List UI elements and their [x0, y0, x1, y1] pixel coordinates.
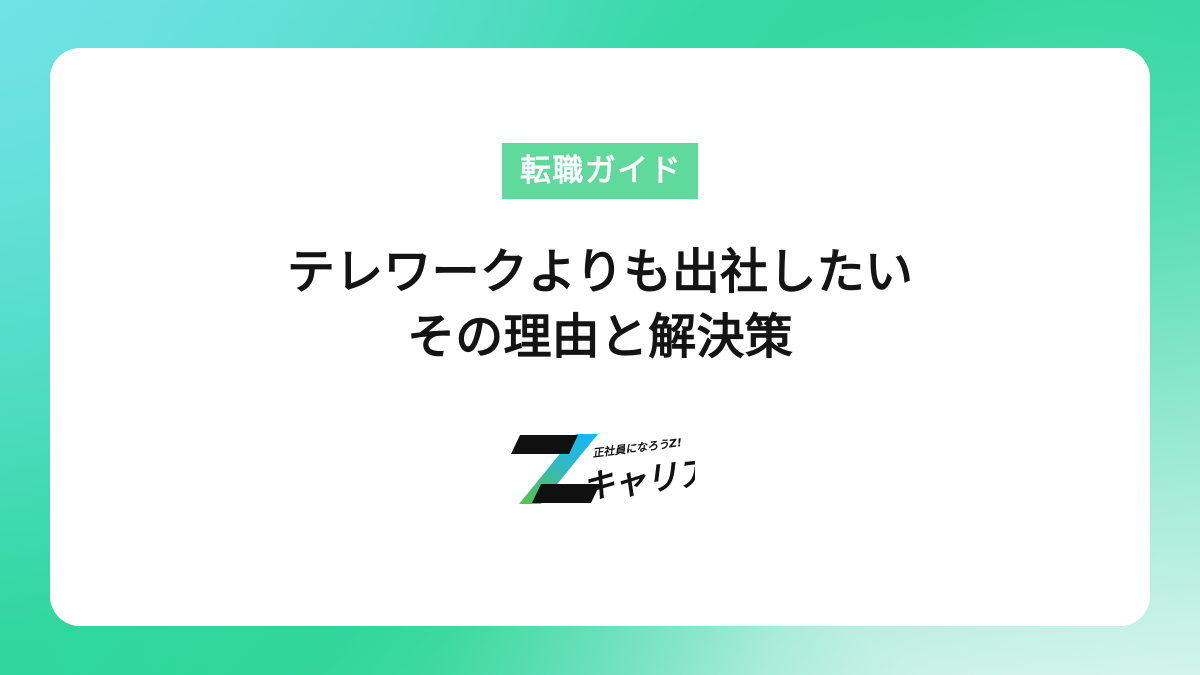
logo-wordmark: キャリア [579, 451, 695, 506]
category-badge: 転職ガイド [502, 143, 698, 199]
brand-logo: 正社員になろうZ! キャリア [505, 429, 695, 509]
page-title: テレワークよりも出社したい その理由と解決策 [287, 240, 913, 371]
ogp-canvas: 転職ガイド テレワークよりも出社したい その理由と解決策 [0, 0, 1200, 675]
page-title-line-2: その理由と解決策 [287, 305, 913, 370]
page-title-line-1: テレワークよりも出社したい [287, 240, 913, 305]
content-card: 転職ガイド テレワークよりも出社したい その理由と解決策 [50, 48, 1150, 626]
brand-logo-svg: 正社員になろうZ! キャリア [505, 429, 695, 509]
